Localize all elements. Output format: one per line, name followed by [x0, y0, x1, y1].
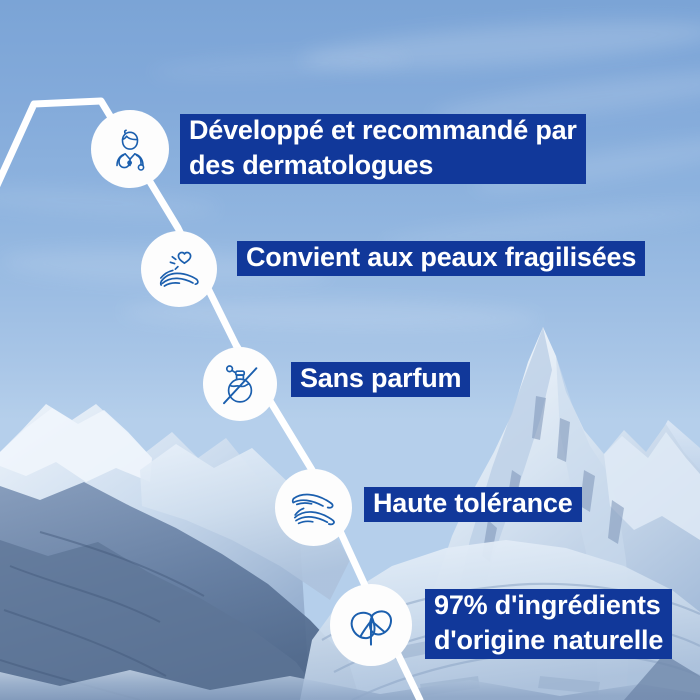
benefit-label-sans-parfum: Sans parfum [291, 362, 470, 397]
benefit-icon-bubble-haute-tolerance[interactable] [275, 469, 352, 546]
benefit-label-line: des dermatologues [180, 149, 442, 184]
two-hands-icon [287, 484, 341, 532]
benefit-label-line: Convient aux peaux fragilisées [237, 241, 645, 276]
benefit-icon-bubble-sans-parfum[interactable] [203, 347, 277, 421]
benefit-label-haute-tolerance: Haute tolérance [364, 487, 582, 522]
benefit-icon-bubble-dermatologues[interactable] [91, 110, 169, 188]
benefit-label-line: d'origine naturelle [425, 624, 672, 659]
benefit-label-line: Sans parfum [291, 362, 470, 397]
benefit-label-line: Haute tolérance [364, 487, 582, 522]
benefit-icon-bubble-origine-naturelle[interactable] [330, 584, 412, 666]
benefit-label-dermatologues: Développé et recommandé par des dermatol… [180, 114, 586, 184]
no-perfume-icon [215, 359, 265, 409]
promo-banner: Développé et recommandé par des dermatol… [0, 0, 700, 700]
hand-heart-icon [153, 245, 205, 293]
leaves-sprout-icon [343, 597, 399, 653]
benefit-label-line: Développé et recommandé par [180, 114, 586, 149]
benefit-label-line: 97% d'ingrédients [425, 589, 670, 624]
benefit-label-origine-naturelle: 97% d'ingrédients d'origine naturelle [425, 589, 672, 659]
benefit-label-peaux-fragilisees: Convient aux peaux fragilisées [237, 241, 645, 276]
benefit-icon-bubble-peaux-fragilisees[interactable] [141, 231, 217, 307]
doctor-stethoscope-icon [105, 124, 155, 174]
